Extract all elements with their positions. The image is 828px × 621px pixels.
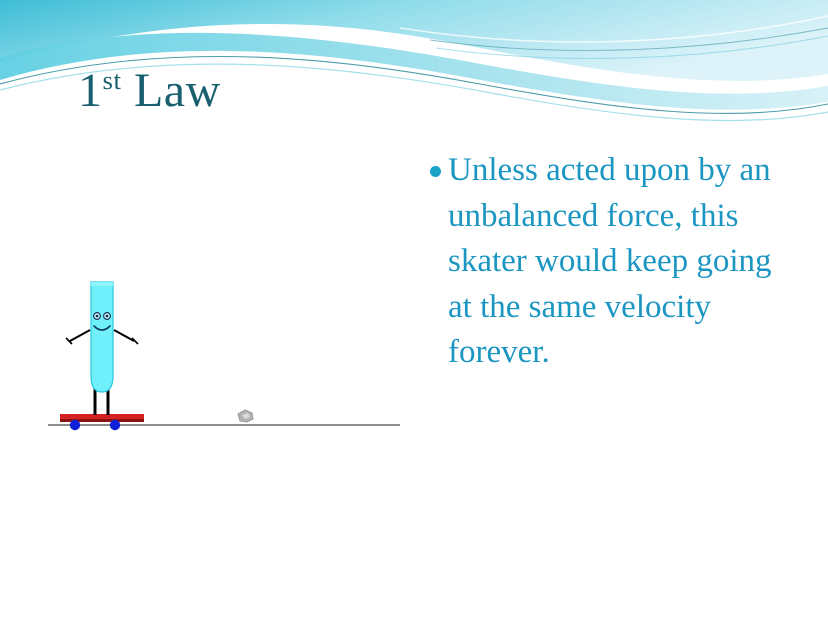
skateboard-wheel-front: [70, 420, 80, 430]
pebble-on-ground: [238, 410, 253, 422]
skateboard-wheel-back: [110, 420, 120, 430]
slide: 1st Law Unless acted upon by an unbalanc…: [0, 0, 828, 621]
body-content-placeholder: Unless acted upon by an unbalanced force…: [430, 148, 800, 376]
banner-accent-line-right-white: [400, 16, 828, 42]
skater-arm-left: [70, 330, 90, 341]
list-item: Unless acted upon by an unbalanced force…: [430, 148, 800, 376]
title-ordinal-suffix: st: [103, 65, 122, 95]
skater-illustration: [38, 266, 418, 438]
skater-arm-right: [114, 330, 134, 341]
title-number: 1: [78, 64, 103, 117]
skater-pupil-left: [96, 315, 99, 318]
bullet-dot-icon: [430, 166, 441, 177]
banner-accent-line-right: [430, 28, 828, 50]
skater-body: [91, 282, 113, 392]
skater-body-top-highlight: [91, 282, 113, 286]
title-word: Law: [121, 64, 220, 117]
skateboard: [60, 414, 144, 430]
page-title: 1st Law: [78, 66, 221, 116]
bullet-text: Unless acted upon by an unbalanced force…: [448, 148, 800, 376]
banner-accent-line-right-2: [436, 36, 828, 58]
skater-pupil-right: [106, 315, 109, 318]
